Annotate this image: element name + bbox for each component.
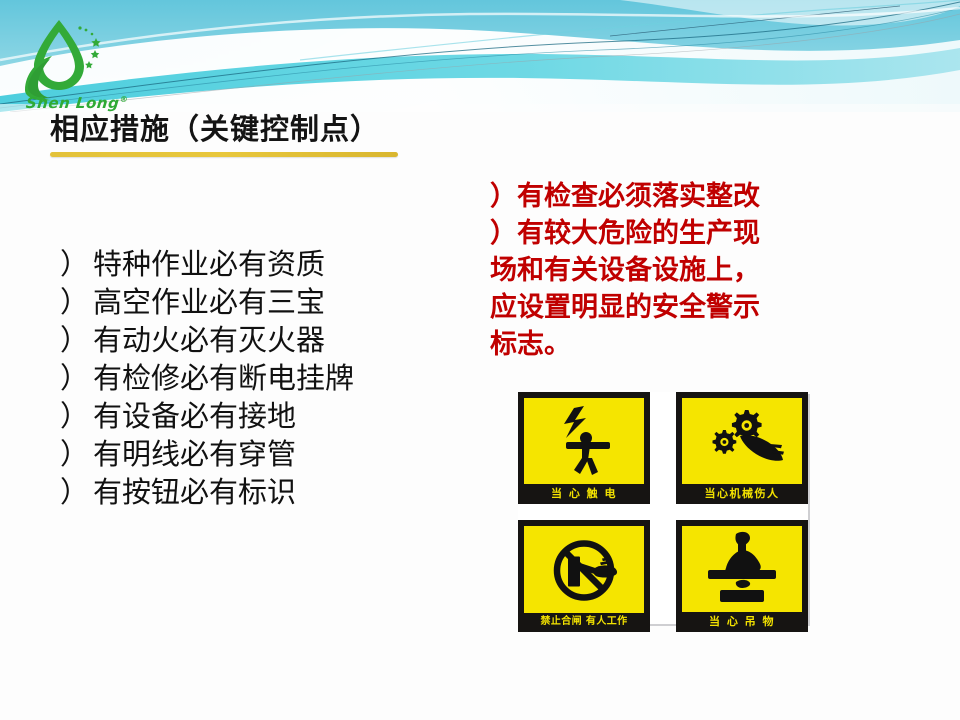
- header-banner: [0, 0, 960, 112]
- sign-label: 当 心 吊 物: [682, 612, 802, 632]
- sign-no-switching: 禁止合闸 有人工作: [518, 520, 650, 632]
- list-item: ）有按钮必有标识: [60, 473, 460, 511]
- list-bullet: ）: [60, 475, 89, 509]
- list-bullet: ）: [60, 247, 89, 281]
- red-text-line: 标志。: [490, 326, 850, 363]
- shen-long-logo: Shen Long®: [12, 16, 116, 110]
- list-item-label: 有检修必有断电挂牌: [93, 361, 354, 395]
- page-title: 相应措施（关键控制点）: [50, 106, 380, 148]
- prohibit-switch-icon: [524, 526, 644, 613]
- slide: Shen Long® 相应措施（关键控制点） ）特种作业必有资质 ）高空作业必有…: [0, 0, 960, 720]
- sign-label: 禁止合闸 有人工作: [524, 613, 644, 632]
- list-item-label: 有设备必有接地: [93, 399, 296, 433]
- list-item: ）高空作业必有三宝: [60, 283, 460, 321]
- title-underline-rule: [50, 152, 398, 157]
- sign-machinery-injury: 当心机械伤人: [676, 392, 808, 504]
- list-item-label: 有明线必有穿管: [93, 437, 296, 471]
- sign-label: 当 心 触 电: [524, 484, 644, 504]
- safety-signs-image: 当 心 触 电: [518, 392, 808, 624]
- gear-hand-icon: [682, 398, 802, 484]
- sign-suspended-load: 当 心 吊 物: [676, 520, 808, 632]
- sign-electric-shock: 当 心 触 电: [518, 392, 650, 504]
- list-bullet: ）: [60, 399, 89, 433]
- registered-mark: ®: [119, 95, 128, 104]
- list-item: ）有动火必有灭火器: [60, 321, 460, 359]
- red-text-line: 应设置明显的安全警示: [490, 289, 850, 326]
- measures-list: ）特种作业必有资质 ）高空作业必有三宝 ）有动火必有灭火器 ）有检修必有断电挂牌…: [60, 245, 460, 511]
- list-item: ）有检修必有断电挂牌: [60, 359, 460, 397]
- warning-requirement-text: ）有检查必须落实整改 ）有较大危险的生产现 场和有关设备设施上， 应设置明显的安…: [490, 178, 850, 363]
- list-item-label: 特种作业必有资质: [93, 247, 325, 281]
- list-bullet: ）: [60, 323, 89, 357]
- red-text-line: ）有较大危险的生产现: [490, 215, 850, 252]
- list-item-label: 有动火必有灭火器: [93, 323, 325, 357]
- list-bullet: ）: [60, 361, 89, 395]
- red-text-line: ）有检查必须落实整改: [490, 178, 850, 215]
- list-item-label: 高空作业必有三宝: [93, 285, 325, 319]
- red-text-line: 场和有关设备设施上，: [490, 252, 850, 289]
- list-item: ）有设备必有接地: [60, 397, 460, 435]
- sign-label: 当心机械伤人: [682, 484, 802, 504]
- list-bullet: ）: [60, 285, 89, 319]
- list-item-label: 有按钮必有标识: [93, 475, 296, 509]
- list-bullet: ）: [60, 437, 89, 471]
- list-item: ）特种作业必有资质: [60, 245, 460, 283]
- suspended-load-icon: [682, 526, 802, 612]
- list-item: ）有明线必有穿管: [60, 435, 460, 473]
- electric-shock-icon: [524, 398, 644, 484]
